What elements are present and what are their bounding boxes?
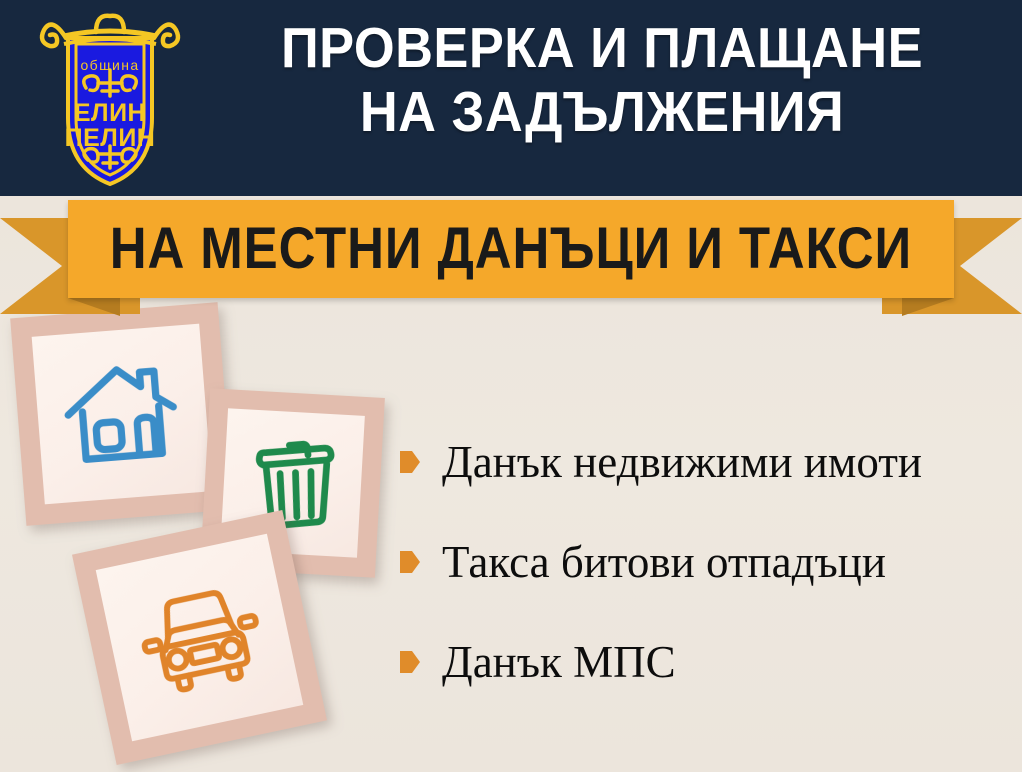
list-item: Данък недвижими имоти bbox=[400, 412, 1020, 512]
crest-icon: община ЕЛИН ПЕЛИН bbox=[30, 8, 190, 190]
arrow-bullet-icon bbox=[400, 551, 420, 573]
list-item-label: Данък недвижими имоти bbox=[442, 437, 922, 487]
subtitle-ribbon: НА МЕСТНИ ДАНЪЦИ И ТАКСИ bbox=[0, 196, 1022, 314]
coat-of-arms-logo: община ЕЛИН ПЕЛИН bbox=[30, 8, 190, 190]
title-line-1: ПРОВЕРКА И ПЛАЩАНЕ bbox=[228, 16, 975, 80]
arrow-bullet-icon bbox=[400, 651, 420, 673]
header-bar: община ЕЛИН ПЕЛИН bbox=[0, 0, 1022, 196]
house-icon bbox=[32, 324, 213, 505]
stamp-car bbox=[72, 510, 327, 765]
list-item: Данък МПС bbox=[400, 612, 1020, 712]
list-item-label: Такса битови отпадъци bbox=[442, 537, 886, 587]
car-front-icon bbox=[96, 534, 304, 742]
stamp-paper bbox=[32, 324, 213, 505]
poster-canvas: община ЕЛИН ПЕЛИН bbox=[0, 0, 1022, 772]
ribbon-band: НА МЕСТНИ ДАНЪЦИ И ТАКСИ bbox=[68, 200, 954, 298]
list-item-label: Данък МПС bbox=[442, 637, 676, 687]
poster-title: ПРОВЕРКА И ПЛАЩАНЕ НА ЗАДЪЛЖЕНИЯ bbox=[196, 16, 1008, 144]
stamp-paper bbox=[96, 534, 304, 742]
crest-line-1: ЕЛИН bbox=[74, 99, 146, 127]
stamp-house bbox=[10, 302, 234, 526]
tax-type-list: Данък недвижими имоти Такса битови отпад… bbox=[400, 412, 1020, 712]
ribbon-label: НА МЕСТНИ ДАНЪЦИ И ТАКСИ bbox=[110, 219, 912, 279]
title-line-2: НА ЗАДЪЛЖЕНИЯ bbox=[228, 80, 975, 144]
arrow-bullet-icon bbox=[400, 451, 420, 473]
list-item: Такса битови отпадъци bbox=[400, 512, 1020, 612]
stamp-collage bbox=[0, 300, 420, 772]
